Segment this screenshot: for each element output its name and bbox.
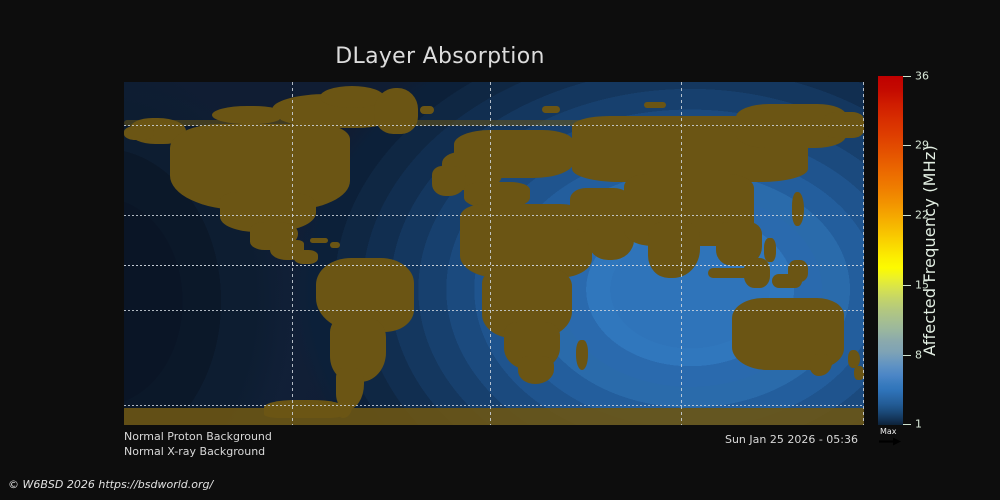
arrow-right-icon: [879, 437, 901, 446]
grid-lon--4: [490, 82, 491, 425]
colorbar[interactable]: Max: [878, 76, 903, 425]
grid-lat-30: [124, 215, 864, 216]
grid-lon-88: [681, 82, 682, 425]
grid-lat--60: [124, 405, 864, 406]
colorbar-gradient: [878, 76, 903, 425]
world-map[interactable]: [124, 82, 864, 425]
copyright-notice: © W6BSD 2026 https://bsdworld.org/: [8, 478, 213, 491]
colorbar-axis-label-text: Affected Frequency (MHz): [920, 145, 939, 356]
page-title: DLayer Absorption: [0, 44, 880, 69]
dlayer-absorption-map-view: DLayer Absorption: [0, 0, 1000, 500]
graticule: [124, 82, 864, 425]
grid-lat-0: [124, 310, 864, 311]
colorbar-max-label: Max: [880, 427, 897, 436]
grid-lat-60: [124, 125, 864, 126]
grid-lat-15: [124, 265, 864, 266]
status-xray-background: Normal X-ray Background: [124, 444, 272, 459]
grid-lon-180: [863, 82, 864, 425]
grid-lon--100: [292, 82, 293, 425]
colorbar-axis-label: Affected Frequency (MHz): [916, 76, 942, 425]
timestamp: Sun Jan 25 2026 - 05:36: [0, 433, 858, 446]
colorbar-max-marker: Max: [878, 427, 903, 449]
